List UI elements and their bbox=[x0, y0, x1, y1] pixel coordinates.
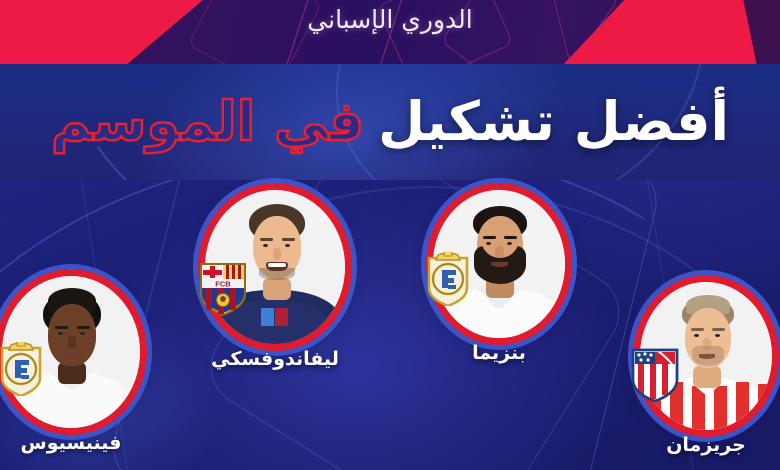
svg-text:FCB: FCB bbox=[215, 280, 231, 289]
player-card-lewandowski[interactable]: FCB ليفاندوفسكي bbox=[205, 190, 345, 344]
player-name-griezmann: جريزمان bbox=[622, 434, 780, 456]
atletico-madrid-badge bbox=[630, 346, 680, 404]
main-title-red-part: في الموسم bbox=[51, 95, 364, 149]
real-madrid-badge bbox=[425, 252, 471, 306]
fc-barcelona-badge: FCB bbox=[197, 260, 249, 318]
player-name-benzema: بنزيما bbox=[409, 342, 589, 364]
player-card-griezmann[interactable]: جريزمان bbox=[640, 282, 772, 430]
player-name-vinicius: فينيسيوس bbox=[0, 432, 156, 454]
player-name-lewandowski: ليفاندوفسكي bbox=[181, 348, 369, 370]
player-card-benzema[interactable]: بنزيما bbox=[433, 190, 565, 338]
player-card-vinicius[interactable]: فينيسيوس bbox=[2, 276, 140, 428]
main-title-white-part: أفضل تشكيل bbox=[378, 95, 729, 149]
real-madrid-badge bbox=[0, 342, 44, 396]
league-subtitle: الدوري الإسباني bbox=[0, 6, 780, 35]
graphic-canvas: أفضل تشكيل في الموسم الدوري الإسباني bbox=[0, 0, 780, 470]
main-title: أفضل تشكيل في الموسم bbox=[0, 62, 780, 182]
